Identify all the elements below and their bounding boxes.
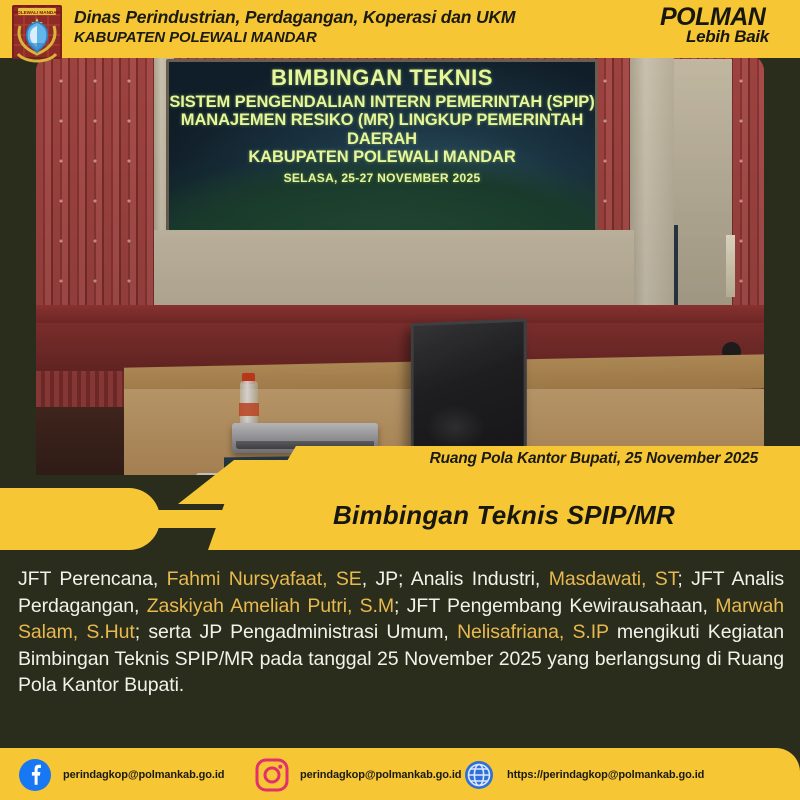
polman-logo: POLMAN Lebih Baik (660, 4, 788, 54)
body-text-run: ; JFT Pengembang Kewirausahaan, (394, 595, 715, 617)
body-text-run: JFT Perencana, (18, 568, 167, 590)
screen-title: BIMBINGAN TEKNIS (169, 66, 595, 91)
photo-scene: BIMBINGAN TEKNIS SISTEM PENGENDALIAN INT… (36, 55, 764, 475)
floor-lamp (726, 235, 735, 297)
screen-line-2: MANAJEMEN RESIKO (MR) LINGKUP PEMERINTAH… (169, 111, 595, 148)
body-text-run: ; serta JP Pengadministrasi Umum, (135, 621, 457, 643)
footer-facebook[interactable]: perindagkop@polmankab.go.id (18, 758, 224, 792)
page-title: Bimbingan Teknis SPIP/MR (208, 500, 800, 531)
screen-text-block: BIMBINGAN TEKNIS SISTEM PENGENDALIAN INT… (169, 66, 595, 185)
screen-line-1: SISTEM PENGENDALIAN INTERN PEMERINTAH (S… (169, 93, 595, 111)
back-wall (154, 230, 634, 308)
footer-website[interactable]: https://perindagkop@polmankab.go.id (462, 758, 704, 792)
photo-caption: Ruang Pola Kantor Bupati, 25 November 20… (296, 450, 786, 468)
stage-edge (36, 305, 764, 325)
header-title-block: Dinas Perindustrian, Perdagangan, Kopera… (74, 7, 515, 48)
footer-instagram[interactable]: perindagkop@polmankab.go.id (255, 758, 461, 792)
event-photo: BIMBINGAN TEKNIS SISTEM PENGENDALIAN INT… (36, 55, 764, 475)
highlighted-name: Fahmi Nursyafaat, SE (167, 568, 362, 590)
facebook-handle: perindagkop@polmankab.go.id (63, 769, 224, 781)
bottle-label (239, 403, 259, 416)
screen-line-3: KABUPATEN POLEWALI MANDAR (169, 148, 595, 166)
website-url: https://perindagkop@polmankab.go.id (507, 769, 704, 781)
decorative-circle (76, 498, 118, 540)
article-body: JFT Perencana, Fahmi Nursyafaat, SE, JP;… (18, 566, 784, 699)
dept-name: Dinas Perindustrian, Perdagangan, Kopera… (74, 7, 515, 28)
svg-text:POLEWALI MANDAR: POLEWALI MANDAR (14, 10, 60, 15)
facebook-icon (18, 758, 52, 792)
screen-date: SELASA, 25-27 NOVEMBER 2025 (169, 172, 595, 185)
globe-icon (462, 758, 496, 792)
instagram-handle: perindagkop@polmankab.go.id (300, 769, 461, 781)
body-text-run: , JP; Analis Industri, (362, 568, 549, 590)
highlighted-name: Masdawati, ST (549, 568, 678, 590)
highlighted-name: Zaskiyah Ameliah Putri, S.M (147, 595, 394, 617)
instagram-icon (255, 758, 289, 792)
highlighted-name: Nelisafriana, S.IP (457, 621, 609, 643)
poster-canvas: BIMBINGAN TEKNIS SISTEM PENGENDALIAN INT… (0, 0, 800, 800)
polman-tagline: Lebih Baik (686, 27, 769, 47)
regency-name: KABUPATEN POLEWALI MANDAR (74, 28, 515, 48)
projector-screen: BIMBINGAN TEKNIS SISTEM PENGENDALIAN INT… (166, 59, 598, 234)
polewali-mandar-crest-icon: POLEWALI MANDAR (8, 2, 66, 68)
doorway (672, 59, 732, 309)
